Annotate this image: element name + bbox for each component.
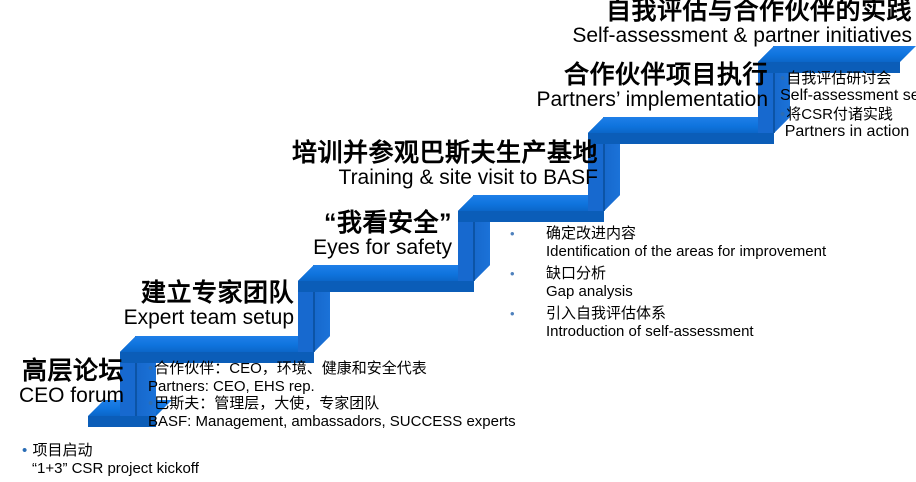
participants-list: •合作伙伴：CEO，环境、健康和安全代表 Partners: CEO, EHS … bbox=[148, 360, 516, 431]
step-label-cn: 建立专家团队 bbox=[72, 280, 294, 307]
top-activities-list: •自我评估研讨会 Self-assessment seminar •将CSR付诸… bbox=[780, 70, 914, 141]
top-activity-cn: •将CSR付诸实践 bbox=[780, 106, 914, 123]
participants-item-cn: •合作伙伴：CEO，环境、健康和安全代表 bbox=[148, 360, 516, 378]
bullet-icon: • bbox=[510, 226, 546, 241]
step-label-ceo-forum: 高层论坛 CEO forum bbox=[6, 358, 124, 407]
step-label-en: Eyes for safety bbox=[252, 237, 452, 259]
step-label-expert-team-setup: 建立专家团队 Expert team setup bbox=[72, 280, 294, 329]
participants-item-cn: •巴斯夫：管理层，大使，专家团队 bbox=[148, 395, 516, 413]
activity-en: Identification of the areas for improvem… bbox=[510, 243, 826, 260]
activity-cn: •确定改进内容 bbox=[510, 222, 826, 243]
list-item: •将CSR付诸实践 Partners in action bbox=[780, 106, 914, 142]
list-item: •巴斯夫：管理层，大使，专家团队 BASF: Management, ambas… bbox=[148, 395, 516, 430]
list-item: •确定改进内容 Identification of the areas for … bbox=[510, 222, 826, 260]
activity-en: Gap analysis bbox=[510, 283, 826, 300]
step-label-eyes-for-safety: “我看安全” Eyes for safety bbox=[252, 210, 452, 259]
step-label-en: Partners’ implementation bbox=[470, 89, 768, 111]
top-activity-en: Self-assessment seminar bbox=[780, 87, 914, 105]
list-item: •合作伙伴：CEO，环境、健康和安全代表 Partners: CEO, EHS … bbox=[148, 360, 516, 395]
participants-item-en: Partners: CEO, EHS rep. bbox=[148, 378, 516, 396]
activity-cn: •缺口分析 bbox=[510, 262, 826, 283]
step-label-cn: 高层论坛 bbox=[6, 358, 124, 385]
step-label-cn: 培训并参观巴斯夫生产基地 bbox=[278, 140, 598, 167]
staircase-diagram: 高层论坛 CEO forum 建立专家团队 Expert team setup … bbox=[0, 0, 916, 482]
step-label-training-site-visit: 培训并参观巴斯夫生产基地 Training & site visit to BA… bbox=[278, 140, 598, 189]
participants-item-en: BASF: Management, ambassadors, SUCCESS e… bbox=[148, 413, 516, 431]
bullet-icon: • bbox=[510, 266, 546, 281]
step-label-en: Self-assessment & partner initiatives bbox=[542, 25, 912, 47]
step-shape-self-assessment-partner-initiatives bbox=[758, 46, 916, 73]
assessment-activities-list: •确定改进内容 Identification of the areas for … bbox=[510, 222, 826, 342]
top-activity-en: Partners in action bbox=[780, 123, 914, 141]
step-label-en: CEO forum bbox=[6, 385, 124, 407]
kickoff-cn: • 项目启动 bbox=[22, 442, 199, 460]
activity-en: Introduction of self-assessment bbox=[510, 323, 826, 340]
step-label-self-assessment-partner-initiatives: 自我评估与合作伙伴的实践 Self-assessment & partner i… bbox=[542, 0, 912, 47]
step-label-cn: 自我评估与合作伙伴的实践 bbox=[542, 0, 912, 25]
step-label-cn: “我看安全” bbox=[252, 210, 452, 237]
step-label-en: Expert team setup bbox=[72, 307, 294, 329]
step-label-en: Training & site visit to BASF bbox=[278, 167, 598, 189]
bullet-icon: • bbox=[22, 442, 28, 459]
step-label-partners-implementation: 合作伙伴项目执行 Partners’ implementation bbox=[470, 62, 768, 111]
list-item: •引入自我评估体系 Introduction of self-assessmen… bbox=[510, 302, 826, 340]
top-activity-cn: •自我评估研讨会 bbox=[780, 70, 914, 87]
kickoff-en: “1+3” CSR project kickoff bbox=[22, 460, 199, 478]
step-label-cn: 合作伙伴项目执行 bbox=[470, 62, 768, 89]
list-item: •缺口分析 Gap analysis bbox=[510, 262, 826, 300]
bullet-icon: • bbox=[510, 306, 546, 321]
kickoff-note: • 项目启动 “1+3” CSR project kickoff bbox=[22, 442, 199, 478]
list-item: •自我评估研讨会 Self-assessment seminar bbox=[780, 70, 914, 106]
activity-cn: •引入自我评估体系 bbox=[510, 302, 826, 323]
